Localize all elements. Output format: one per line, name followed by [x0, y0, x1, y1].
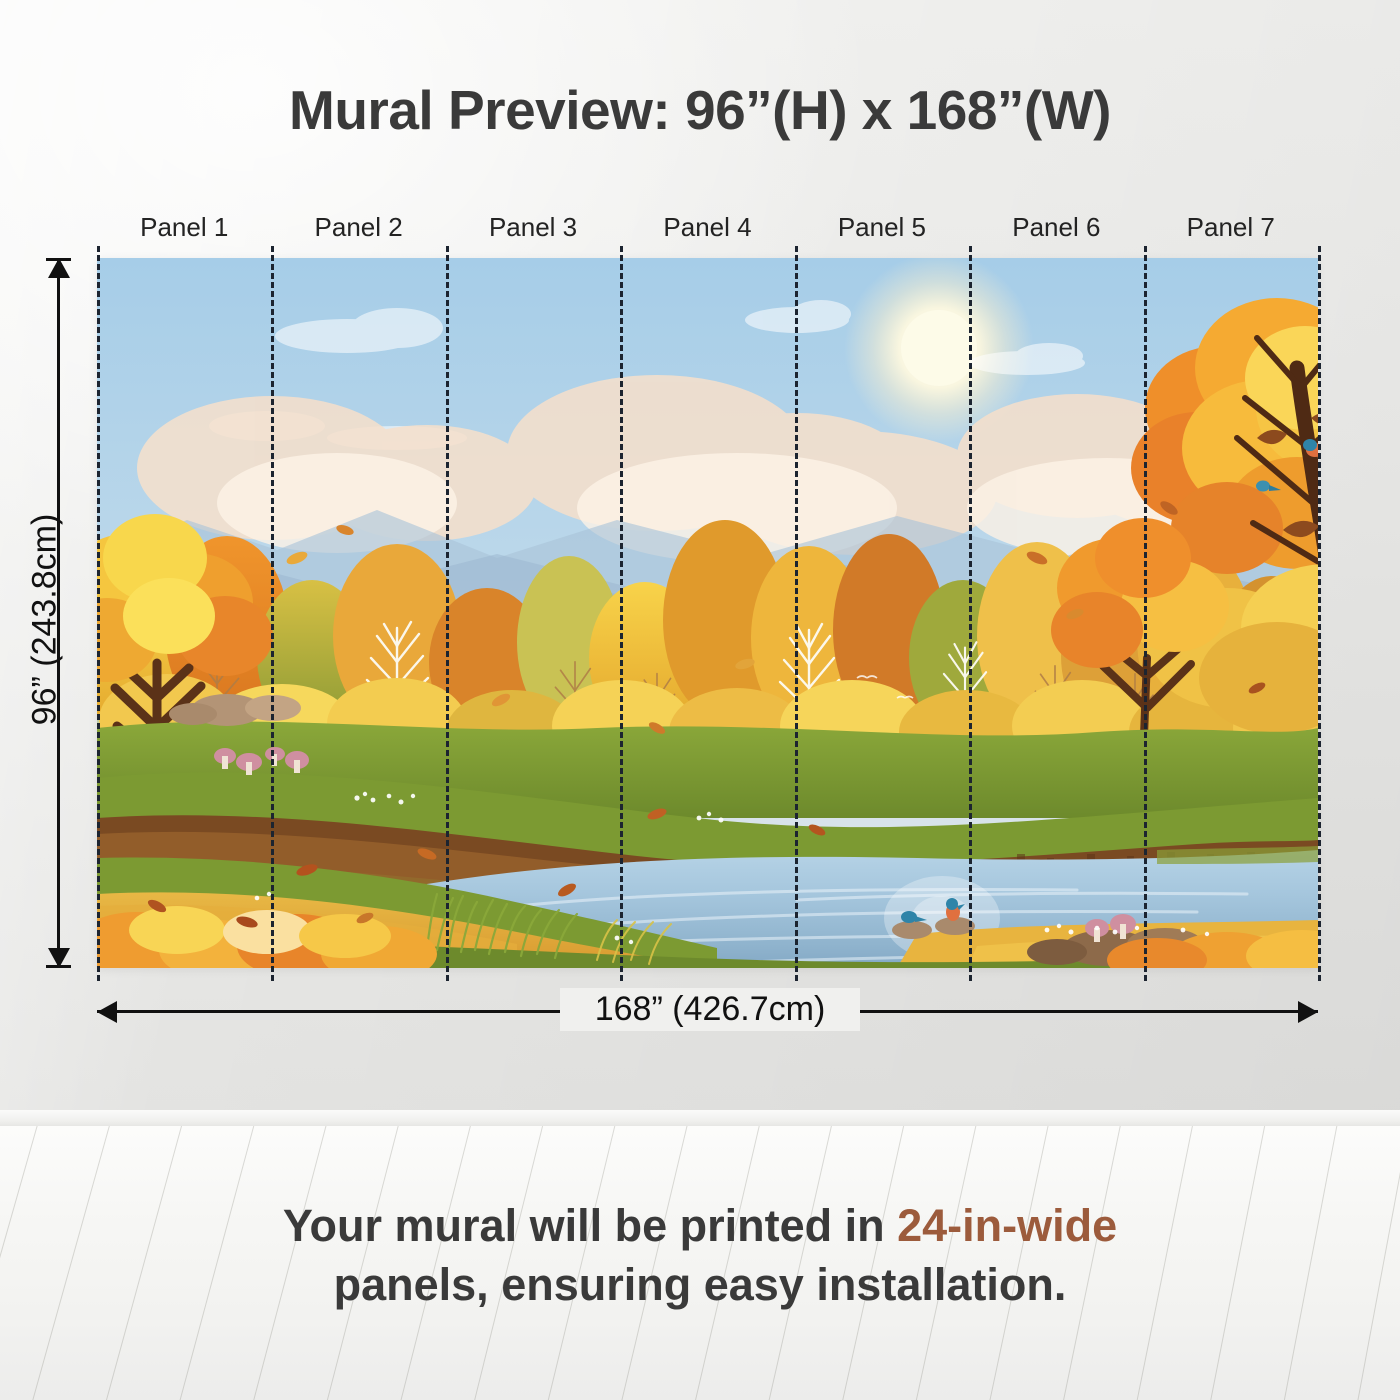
page-title: Mural Preview: 96”(H) x 168”(W): [0, 78, 1400, 142]
mural-artwork: [97, 258, 1318, 968]
height-arrow-down-icon: [48, 948, 70, 968]
panel-divider-2: [446, 246, 449, 981]
height-arrow-up-icon: [48, 258, 70, 278]
caption-accent: 24-in-wide: [897, 1200, 1117, 1251]
width-arrow-left-icon: [97, 1001, 117, 1023]
panel-label-row: Panel 1Panel 2Panel 3Panel 4Panel 5Panel…: [97, 212, 1318, 246]
panel-divider-0: [97, 246, 100, 981]
width-dimension-label: 168” (426.7cm): [560, 988, 860, 1031]
panel-label-4: Panel 4: [620, 212, 794, 243]
panel-label-3: Panel 3: [446, 212, 620, 243]
caption-line-2: panels, ensuring easy installation.: [0, 1255, 1400, 1314]
mural-preview-page: Mural Preview: 96”(H) x 168”(W) Panel 1P…: [0, 0, 1400, 1400]
panel-label-6: Panel 6: [969, 212, 1143, 243]
panel-divider-7: [1318, 246, 1321, 981]
caption-prefix: Your mural will be printed in: [283, 1200, 897, 1251]
panel-divider-1: [271, 246, 274, 981]
panel-divider-6: [1144, 246, 1147, 981]
footer-caption: Your mural will be printed in 24-in-wide…: [0, 1196, 1400, 1315]
panel-label-1: Panel 1: [97, 212, 271, 243]
width-arrow-right-icon: [1298, 1001, 1318, 1023]
panel-divider-4: [795, 246, 798, 981]
panel-label-5: Panel 5: [795, 212, 969, 243]
panel-label-2: Panel 2: [271, 212, 445, 243]
height-dimension-label: 96” (243.8cm): [26, 490, 65, 750]
autumn-lake-scene: [97, 258, 1318, 968]
panel-label-7: Panel 7: [1144, 212, 1318, 243]
panel-divider-5: [969, 246, 972, 981]
panel-divider-3: [620, 246, 623, 981]
caption-line-1: Your mural will be printed in 24-in-wide: [0, 1196, 1400, 1255]
